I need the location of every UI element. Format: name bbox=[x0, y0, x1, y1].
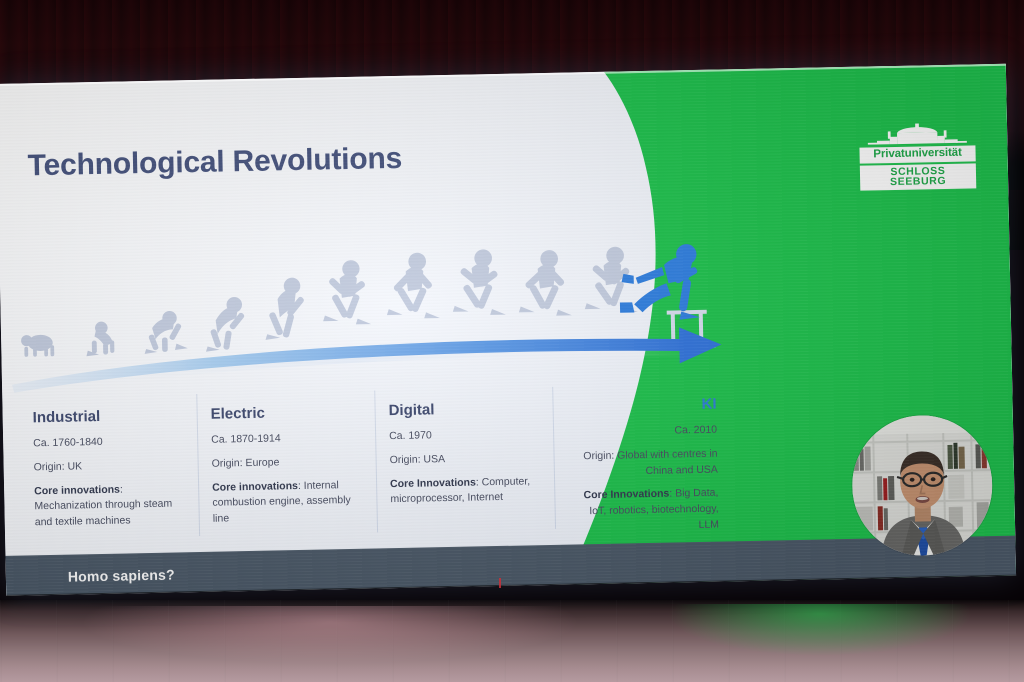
speaker-person bbox=[851, 414, 994, 557]
innovations-label: Core Innovations bbox=[583, 488, 669, 502]
column-digital: Digital Ca. 1970 Origin: USA Core Innova… bbox=[374, 385, 555, 539]
column-origin: Origin: USA bbox=[389, 450, 539, 469]
projection-screen: Technological Revolutions bbox=[0, 64, 1016, 596]
university-logo: Privatuniversität SCHLOSS SEEBURG bbox=[859, 122, 976, 190]
column-origin: Origin: Europe bbox=[212, 453, 362, 472]
column-heading: KI bbox=[566, 396, 716, 416]
column-date: Ca. 2010 bbox=[567, 423, 717, 442]
innovations-label: Core Innovations bbox=[390, 476, 476, 490]
column-date: Ca. 1970 bbox=[389, 426, 539, 445]
column-date: Ca. 1760-1840 bbox=[33, 433, 183, 452]
column-industrial: Industrial Ca. 1760-1840 Origin: UK Core… bbox=[18, 392, 199, 546]
column-electric: Electric Ca. 1870-1914 Origin: Europe Co… bbox=[196, 388, 377, 542]
column-origin: Origin: Global with centres in China and… bbox=[567, 446, 718, 481]
innovations-label: Core innovations bbox=[34, 483, 120, 497]
blue-hurdler-figure bbox=[619, 244, 700, 321]
column-heading: Digital bbox=[388, 399, 538, 419]
auditorium-stage: Technological Revolutions bbox=[0, 0, 1024, 682]
castle-icon bbox=[862, 122, 972, 146]
column-date: Ca. 1870-1914 bbox=[211, 430, 361, 449]
column-innovations: Core Innovations: Computer, microprocess… bbox=[390, 474, 541, 509]
speaker-video-thumbnail[interactable] bbox=[851, 414, 994, 557]
logo-line-2: SCHLOSS SEEBURG bbox=[860, 163, 976, 191]
column-innovations: Core Innovations: Big Data, IoT, robotic… bbox=[568, 486, 719, 536]
column-heading: Electric bbox=[211, 403, 361, 423]
footer-label: Homo sapiens? bbox=[68, 567, 175, 585]
column-innovations: Core innovations: Internal combustion en… bbox=[212, 477, 363, 527]
slide-canvas: Technological Revolutions bbox=[0, 64, 1016, 596]
laser-pointer-dot bbox=[499, 578, 501, 588]
revolutions-columns: Industrial Ca. 1760-1840 Origin: UK Core… bbox=[18, 381, 733, 545]
innovations-text: Mechanization through steam and textile … bbox=[34, 498, 172, 529]
column-ki: KI Ca. 2010 Origin: Global with centres … bbox=[552, 381, 733, 535]
column-innovations: Core innovations: Mechanization through … bbox=[34, 481, 185, 531]
colon: : bbox=[120, 483, 123, 495]
column-origin: Origin: UK bbox=[34, 457, 184, 476]
logo-line-1: Privatuniversität bbox=[859, 145, 975, 163]
innovations-label: Core innovations bbox=[212, 480, 298, 494]
column-heading: Industrial bbox=[33, 406, 183, 426]
floor-reflection-green bbox=[640, 604, 1024, 682]
